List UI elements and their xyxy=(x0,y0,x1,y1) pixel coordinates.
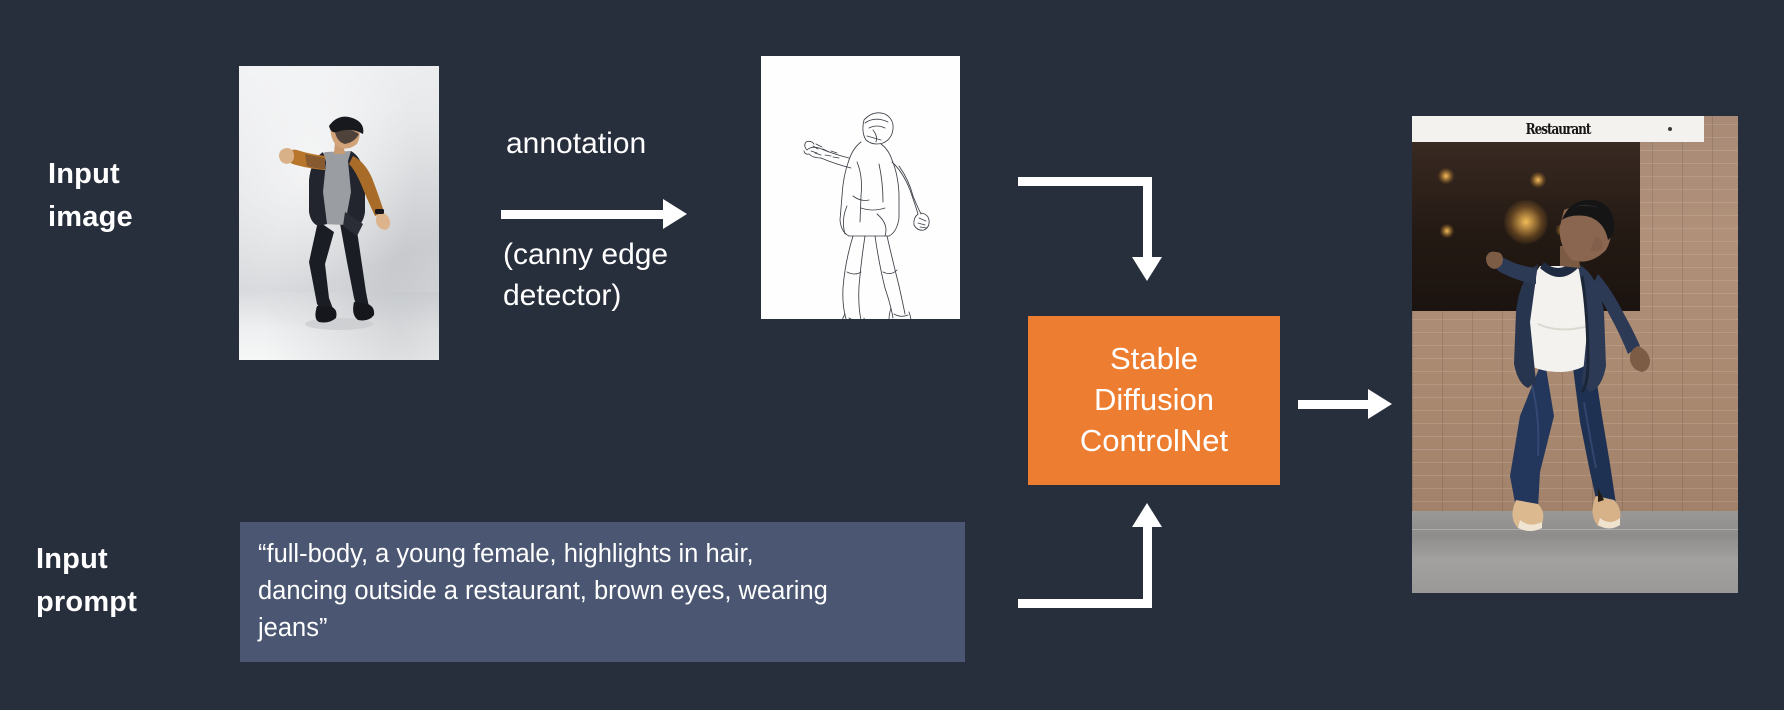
label-input-image: Input image xyxy=(48,153,133,239)
male-dancer-figure xyxy=(239,66,439,360)
label-input-image-line1: Input xyxy=(48,153,133,196)
label-input-prompt-line1: Input xyxy=(36,538,137,581)
output-image-photo: Restaurant xyxy=(1412,116,1738,593)
annotation-label: annotation xyxy=(506,124,646,163)
canny-edge-line-drawing xyxy=(761,56,960,319)
model-to-output-arrow-shaft xyxy=(1298,400,1368,409)
diagram-canvas: Input image Input prompt xyxy=(0,0,1784,710)
canny-edge-image xyxy=(761,56,960,319)
label-input-prompt-line2: prompt xyxy=(36,581,137,624)
annotation-sublabel-line2: detector) xyxy=(503,276,733,317)
model-box-stable-diffusion-controlnet[interactable]: Stable Diffusion ControlNet xyxy=(1028,316,1280,485)
label-input-image-line2: image xyxy=(48,196,133,239)
canny-to-model-arrow-head xyxy=(1132,257,1162,281)
canny-to-model-arrow xyxy=(1018,177,1158,282)
female-dancer-figure xyxy=(1412,116,1738,593)
canny-to-model-arrow-vertical xyxy=(1143,177,1152,259)
annotation-sublabel: (canny edge detector) xyxy=(503,235,733,317)
canny-to-model-arrow-horizontal xyxy=(1018,177,1152,186)
label-input-prompt: Input prompt xyxy=(36,538,137,624)
prompt-to-model-arrow-vertical xyxy=(1143,527,1152,608)
model-box-line3: ControlNet xyxy=(1080,421,1228,462)
input-prompt-line3: jeans” xyxy=(258,610,938,647)
input-prompt-line2: dancing outside a restaurant, brown eyes… xyxy=(258,573,938,610)
annotation-arrow-head xyxy=(663,199,687,229)
prompt-to-model-arrow-head xyxy=(1132,503,1162,527)
input-image-photo xyxy=(239,66,439,360)
model-box-line2: Diffusion xyxy=(1094,380,1214,421)
annotation-sublabel-line1: (canny edge xyxy=(503,235,733,276)
input-prompt-box[interactable]: “full-body, a young female, highlights i… xyxy=(240,522,965,662)
model-box-line1: Stable xyxy=(1110,339,1198,380)
annotation-arrow-shaft xyxy=(501,210,663,219)
prompt-to-model-arrow xyxy=(1018,503,1158,608)
input-prompt-line1: “full-body, a young female, highlights i… xyxy=(258,536,938,573)
prompt-to-model-arrow-horizontal xyxy=(1018,599,1152,608)
model-to-output-arrow-head xyxy=(1368,389,1392,419)
